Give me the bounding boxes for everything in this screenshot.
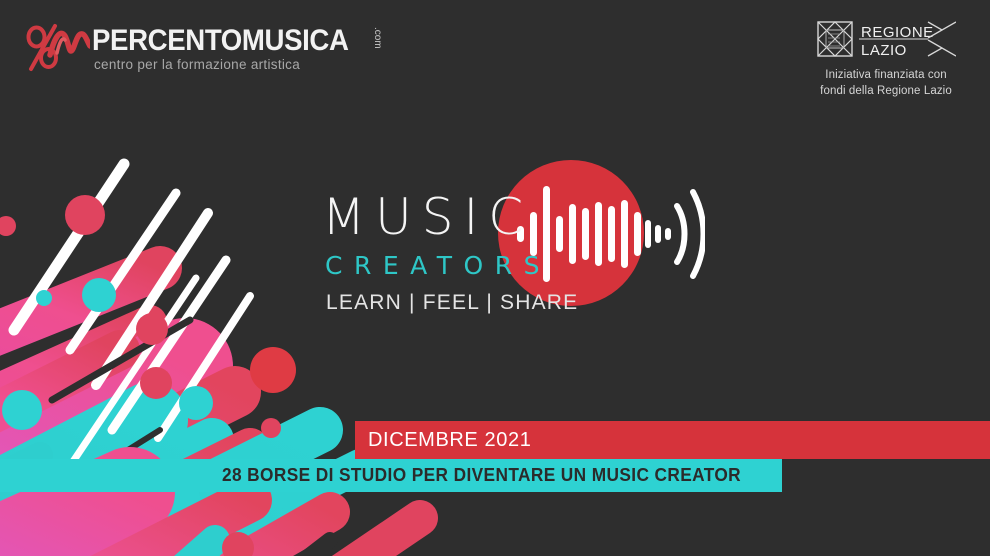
- brand-tld: .com: [372, 27, 382, 49]
- funding-caption: Iniziativa finanziata con fondi della Re…: [800, 68, 972, 99]
- date-banner-label: DICEMBRE 2021: [368, 429, 531, 452]
- funding-caption-line1: Iniziativa finanziata con: [800, 68, 972, 84]
- offer-banner: 28 BORSE DI STUDIO PER DIVENTARE UN MUSI…: [0, 459, 782, 492]
- poster-canvas: PERCENTOMUSICA .com centro per la formaz…: [0, 0, 990, 556]
- percent-m-wave-logo-icon: [24, 22, 90, 72]
- tagline: LEARN | FEEL | SHARE: [326, 292, 578, 313]
- music-creators-lockup: MUSIC CREATORS LEARN | FEEL | SHARE: [322, 160, 742, 330]
- offer-banner-label: 28 BORSE DI STUDIO PER DIVENTARE UN MUSI…: [222, 465, 741, 486]
- lazio-word: LAZIO: [861, 42, 907, 59]
- funding-caption-line2: fondi della Regione Lazio: [800, 84, 972, 100]
- wordmark-music: MUSIC: [322, 192, 533, 242]
- date-banner: DICEMBRE 2021: [355, 421, 990, 459]
- brand-title: PERCENTOMUSICA: [92, 26, 349, 56]
- regione-lazio-logo-icon[interactable]: REGIONE LAZIO: [816, 18, 956, 60]
- brand-text-block: PERCENTOMUSICA .com centro per la formaz…: [92, 22, 382, 74]
- brand-subtitle: centro per la formazione artistica: [94, 57, 300, 72]
- wordmark-creators: CREATORS: [325, 253, 551, 278]
- funding-block: REGIONE LAZIO Iniziativa finanziata con …: [800, 18, 972, 99]
- brand-logo[interactable]: PERCENTOMUSICA .com centro per la formaz…: [24, 22, 382, 74]
